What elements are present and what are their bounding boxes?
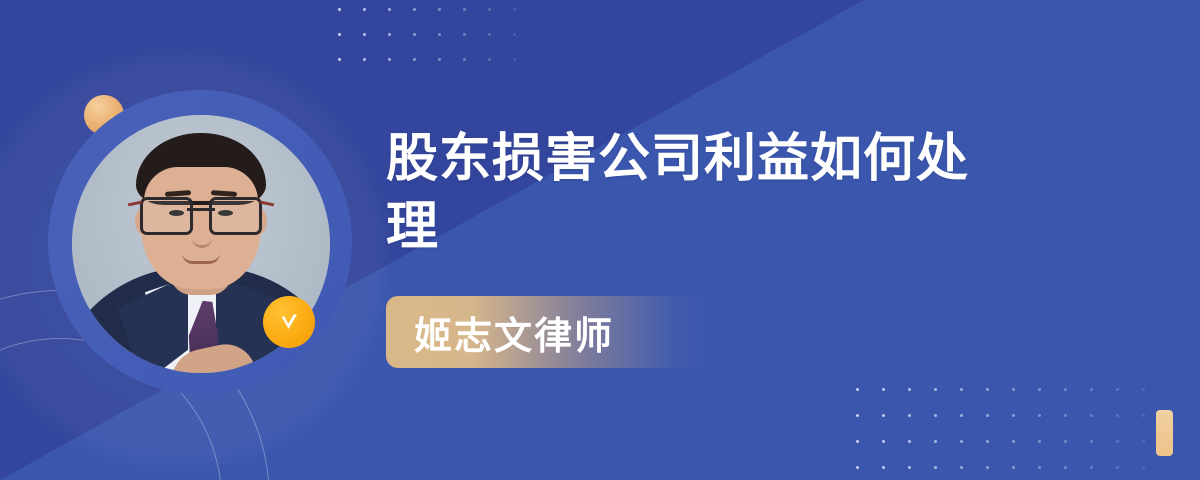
avatar xyxy=(48,90,352,394)
glasses-lens-left xyxy=(140,197,193,235)
page-title: 股东损害公司利益如何处理 xyxy=(386,126,986,261)
text-content: 股东损害公司利益如何处理 姬志文律师 xyxy=(386,126,1146,261)
portrait-mouth xyxy=(182,253,220,264)
lawyer-name-label: 姬志文律师 xyxy=(414,305,614,360)
verified-badge-icon xyxy=(263,296,315,348)
glasses-bridge xyxy=(187,208,215,211)
portrait-nose xyxy=(192,219,212,248)
banner-card: 股东损害公司利益如何处理 姬志文律师 xyxy=(0,0,1200,480)
accent-bar xyxy=(1156,410,1173,456)
lawyer-name-badge: 姬志文律师 xyxy=(386,296,716,368)
glasses-lens-right xyxy=(209,197,262,235)
